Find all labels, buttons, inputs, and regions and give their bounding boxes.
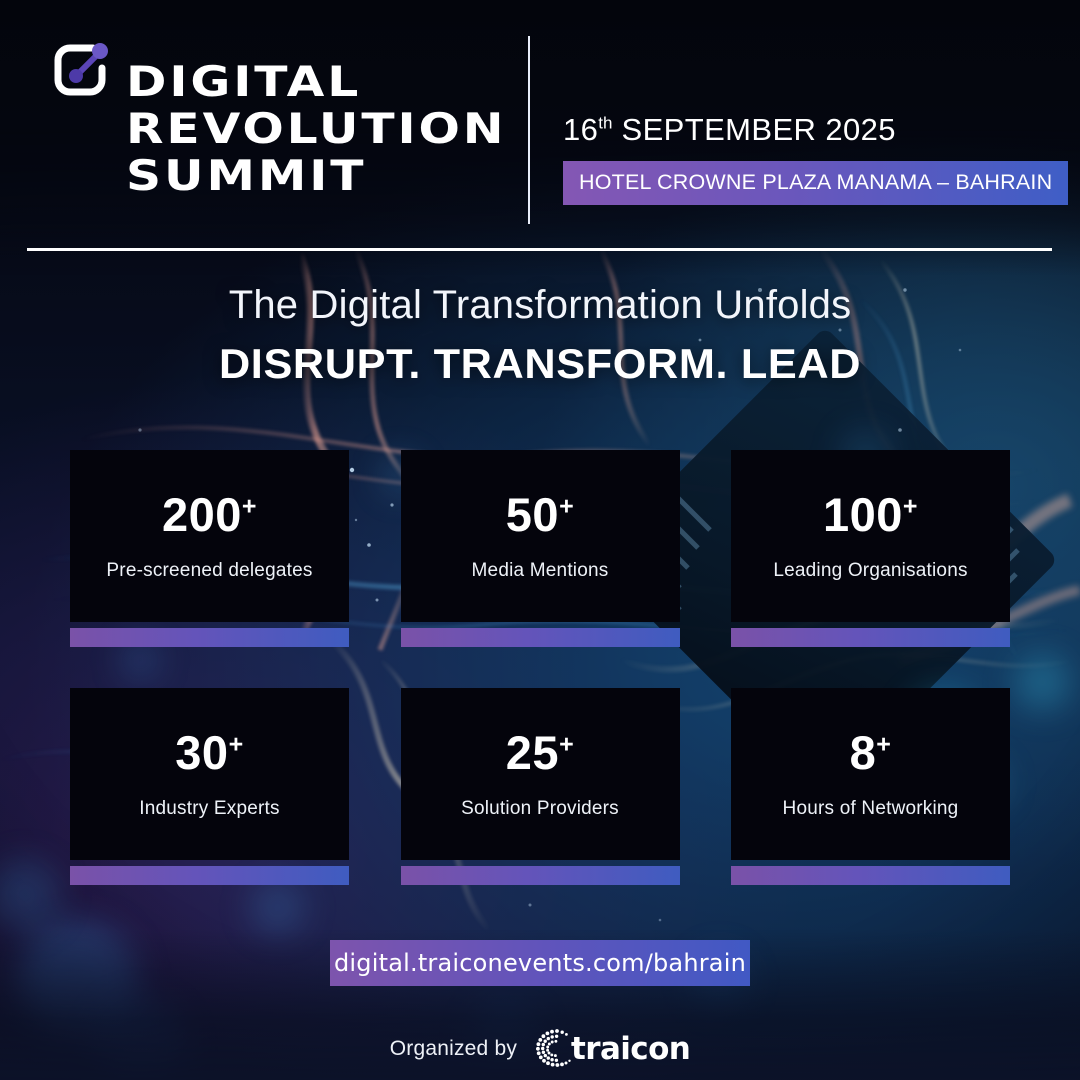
event-date-rest: SEPTEMBER 2025	[612, 112, 895, 147]
stat-label: Industry Experts	[139, 798, 279, 820]
stat-card-accent-bar	[731, 628, 1010, 647]
stat-label: Leading Organisations	[773, 560, 967, 582]
event-date-block: 16th SEPTEMBER 2025 HOTEL CROWNE PLAZA M…	[563, 112, 1068, 205]
stat-card-panel: 50+ Media Mentions	[401, 450, 680, 622]
header-vertical-divider	[528, 36, 530, 224]
stat-label: Pre-screened delegates	[106, 560, 312, 582]
stat-value: 8+	[850, 729, 892, 776]
traicon-logo: traicon	[531, 1026, 690, 1072]
stats-row-2: 30+ Industry Experts 25+ Solution Provid…	[70, 688, 1010, 885]
stat-card: 8+ Hours of Networking	[731, 688, 1010, 885]
stat-value: 50+	[506, 491, 574, 538]
stat-label: Solution Providers	[461, 798, 619, 820]
stat-card-accent-bar	[70, 866, 349, 885]
event-date: 16th SEPTEMBER 2025	[563, 112, 1068, 148]
poster-header: DIGITAL REVOLUTION SUMMIT 16th SEPTEMBER…	[0, 0, 1080, 250]
stat-label: Media Mentions	[472, 560, 609, 582]
stat-value: 200+	[162, 491, 257, 538]
stat-card-accent-bar	[731, 866, 1010, 885]
event-promo-poster: DIGITAL REVOLUTION SUMMIT 16th SEPTEMBER…	[0, 0, 1080, 1080]
stat-card-panel: 100+ Leading Organisations	[731, 450, 1010, 622]
headline-slogan: DISRUPT. TRANSFORM. LEAD	[0, 340, 1080, 388]
stat-card: 100+ Leading Organisations	[731, 450, 1010, 647]
footer-organizer: Organized by	[0, 1026, 1080, 1072]
headline-tagline: The Digital Transformation Unfolds	[0, 283, 1080, 328]
stat-card-accent-bar	[401, 628, 680, 647]
brand-lockup: DIGITAL REVOLUTION SUMMIT	[48, 36, 454, 199]
brand-title-line2: REVOLUTION	[126, 105, 506, 152]
brand-title-line1: DIGITAL	[126, 58, 506, 105]
organized-by-label: Organized by	[390, 1037, 517, 1061]
stat-value: 25+	[506, 729, 574, 776]
stat-card: 30+ Industry Experts	[70, 688, 349, 885]
website-url-button[interactable]: digital.traiconevents.com/bahrain	[330, 940, 750, 986]
stats-grid: 200+ Pre-screened delegates 50+ Media Me…	[70, 450, 1010, 885]
stat-value: 100+	[823, 491, 918, 538]
header-horizontal-rule	[27, 248, 1052, 251]
brand-title-line3: SUMMIT	[126, 152, 506, 199]
stat-card: 200+ Pre-screened delegates	[70, 450, 349, 647]
headline-block: The Digital Transformation Unfolds DISRU…	[0, 283, 1080, 388]
stat-card-accent-bar	[70, 628, 349, 647]
stat-label: Hours of Networking	[783, 798, 959, 820]
stat-card-accent-bar	[401, 866, 680, 885]
stat-card-panel: 25+ Solution Providers	[401, 688, 680, 860]
stats-row-1: 200+ Pre-screened delegates 50+ Media Me…	[70, 450, 1010, 647]
stat-card: 50+ Media Mentions	[401, 450, 680, 647]
stat-card: 25+ Solution Providers	[401, 688, 680, 885]
stat-card-panel: 30+ Industry Experts	[70, 688, 349, 860]
page-title: DIGITAL REVOLUTION SUMMIT	[126, 58, 506, 199]
stat-card-panel: 200+ Pre-screened delegates	[70, 450, 349, 622]
event-date-ordinal: th	[598, 114, 612, 133]
stat-card-panel: 8+ Hours of Networking	[731, 688, 1010, 860]
traicon-wordmark: traicon	[571, 1031, 690, 1067]
event-date-day: 16	[563, 112, 598, 147]
website-url-text: digital.traiconevents.com/bahrain	[334, 949, 746, 977]
stat-value: 30+	[175, 729, 243, 776]
event-venue-badge: HOTEL CROWNE PLAZA MANAMA – BAHRAIN	[563, 161, 1068, 205]
bracket-node-logo-icon	[48, 38, 112, 102]
